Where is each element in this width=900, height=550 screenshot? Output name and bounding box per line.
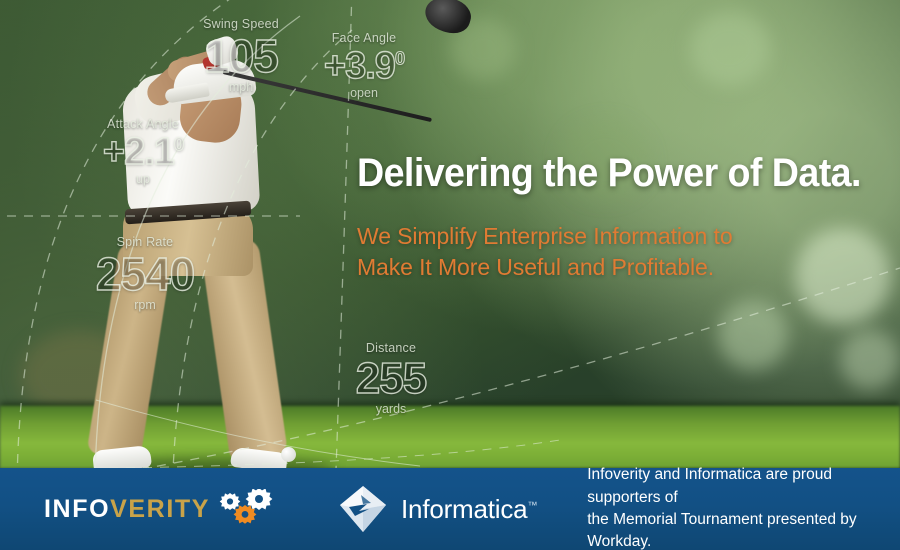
degree-symbol: 0 xyxy=(174,133,183,154)
subheadline-line-2: Make It More Useful and Profitable. xyxy=(357,252,877,282)
metric-attack-angle: Attack Angle +2.10 up xyxy=(78,118,208,185)
metric-value: 2540 xyxy=(80,251,210,297)
informatica-trademark-symbol: ™ xyxy=(527,500,537,511)
marketing-copy-block: Delivering the Power of Data. We Simplif… xyxy=(357,152,877,282)
infoverity-wordmark: INFOVERITY xyxy=(44,495,210,524)
metric-unit: yards xyxy=(330,403,452,416)
informatica-diamond-icon xyxy=(337,483,389,535)
metric-face-angle: Face Angle +3.90 open xyxy=(300,32,428,99)
infoverity-wordmark-info: INFO xyxy=(44,495,110,523)
arc-dashed-sweep xyxy=(90,268,900,478)
gear-small-white-icon xyxy=(220,493,241,510)
metric-label: Face Angle xyxy=(300,32,428,45)
metric-unit: rpm xyxy=(80,299,210,312)
metric-value: 255 xyxy=(330,357,452,401)
metric-distance: Distance 255 yards xyxy=(330,342,452,415)
subheadline: We Simplify Enterprise Information to Ma… xyxy=(357,221,877,282)
headline: Delivering the Power of Data. xyxy=(357,152,846,195)
informatica-logo[interactable]: Informatica™ xyxy=(337,483,537,535)
metric-spin-rate: Spin Rate 2540 rpm xyxy=(80,236,210,311)
gears-icon xyxy=(219,489,275,529)
subheadline-line-1: We Simplify Enterprise Information to xyxy=(357,221,877,251)
metric-value: +3.90 xyxy=(300,47,428,85)
metric-value: +2.10 xyxy=(78,133,208,171)
footer-bar: INFOVERITY xyxy=(0,468,900,550)
metric-unit: mph xyxy=(176,81,306,94)
metric-unit: open xyxy=(300,87,428,100)
degree-symbol: 0 xyxy=(395,47,404,68)
infoverity-logo[interactable]: INFOVERITY xyxy=(44,489,275,529)
golf-advertisement-banner: Swing Speed 105 mph Face Angle +3.90 ope… xyxy=(0,0,900,550)
infoverity-wordmark-verity: VERITY xyxy=(110,495,210,523)
metric-swing-speed: Swing Speed 105 mph xyxy=(176,18,306,93)
metric-value: 105 xyxy=(176,33,306,79)
informatica-wordmark: Informatica™ xyxy=(401,494,537,525)
metric-label: Attack Angle xyxy=(78,118,208,131)
metric-unit: up xyxy=(78,173,208,186)
sponsor-statement-line-1: Infoverity and Informatica are proud sup… xyxy=(587,464,900,509)
sponsor-statement: Infoverity and Informatica are proud sup… xyxy=(587,464,900,550)
sponsor-statement-line-2: the Memorial Tournament presented by Wor… xyxy=(587,509,900,550)
